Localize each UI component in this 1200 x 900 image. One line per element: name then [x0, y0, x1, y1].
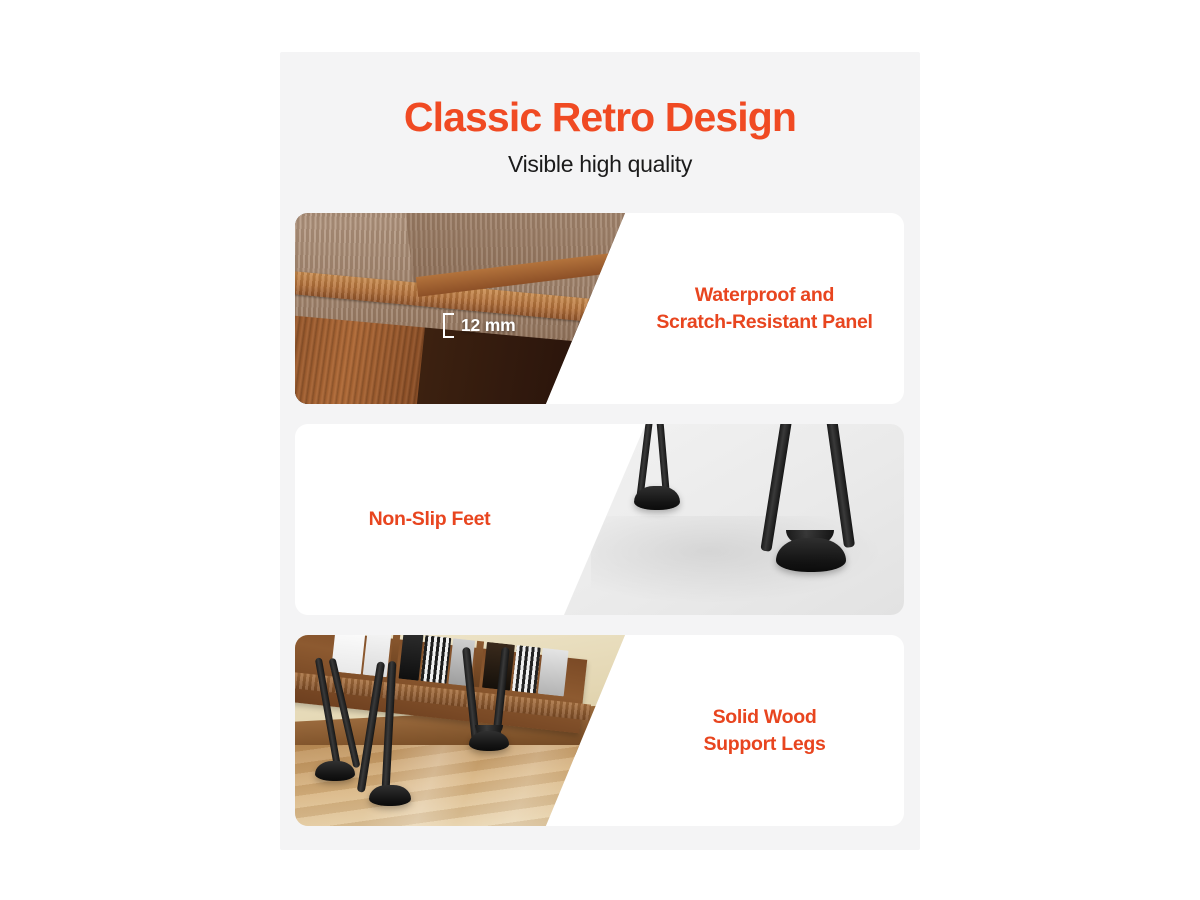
caliper-bracket-icon	[443, 313, 452, 338]
heading-block: Classic Retro Design Visible high qualit…	[280, 96, 920, 177]
vinyl-sleeve	[420, 635, 451, 684]
hairpin-rod	[357, 661, 386, 793]
room-scene	[295, 635, 625, 826]
hairpin-rod	[824, 424, 855, 548]
caption-line-1: Solid Wood	[713, 704, 817, 731]
hairpin-rod-bend	[786, 530, 834, 543]
hairpin-leg-far	[628, 424, 700, 516]
caption-line-2: Scratch-Resistant Panel	[656, 309, 872, 336]
feature-caption-support-legs: Solid Wood Support Legs	[625, 635, 904, 826]
product-feature-infographic: Classic Retro Design Visible high qualit…	[0, 0, 1200, 900]
non-slip-foot-cap	[776, 538, 846, 572]
page-subtitle: Visible high quality	[280, 151, 920, 177]
tabletop-corner-photo: 12 mm	[295, 213, 625, 404]
caption-line-1: Waterproof and	[695, 282, 834, 309]
hairpin-leg-left	[323, 657, 409, 785]
gray-floor-scene	[564, 424, 904, 615]
feature-panel-waterproof: 12 mm Waterproof and Scratch-Resistant P…	[295, 213, 904, 404]
non-slip-foot-cap	[634, 486, 680, 510]
caption-line-2: Support Legs	[703, 731, 825, 758]
feature-panel-support-legs: Solid Wood Support Legs	[295, 635, 904, 826]
hairpin-leg-near	[760, 424, 904, 580]
hairpin-feet-photo	[564, 424, 904, 615]
wood-scene: 12 mm	[295, 213, 625, 404]
feature-caption-non-slip-feet: Non-Slip Feet	[295, 424, 564, 615]
feature-panel-non-slip-feet: Non-Slip Feet	[295, 424, 904, 615]
hairpin-leg-right	[463, 647, 545, 759]
non-slip-foot-cap	[315, 761, 355, 781]
panel-thickness-label: 12 mm	[461, 315, 515, 336]
non-slip-foot-cap	[369, 785, 411, 806]
panel-thickness-callout: 12 mm	[443, 313, 515, 338]
hairpin-rod	[655, 424, 670, 494]
hairpin-rod	[760, 424, 794, 552]
page-title: Classic Retro Design	[280, 96, 920, 139]
feature-caption-waterproof: Waterproof and Scratch-Resistant Panel	[625, 213, 904, 404]
caption-line-1: Non-Slip Feet	[369, 506, 491, 533]
non-slip-foot-cap	[469, 731, 509, 751]
hairpin-rod	[382, 661, 397, 789]
infographic-card: Classic Retro Design Visible high qualit…	[280, 52, 920, 850]
console-room-photo	[295, 635, 625, 826]
